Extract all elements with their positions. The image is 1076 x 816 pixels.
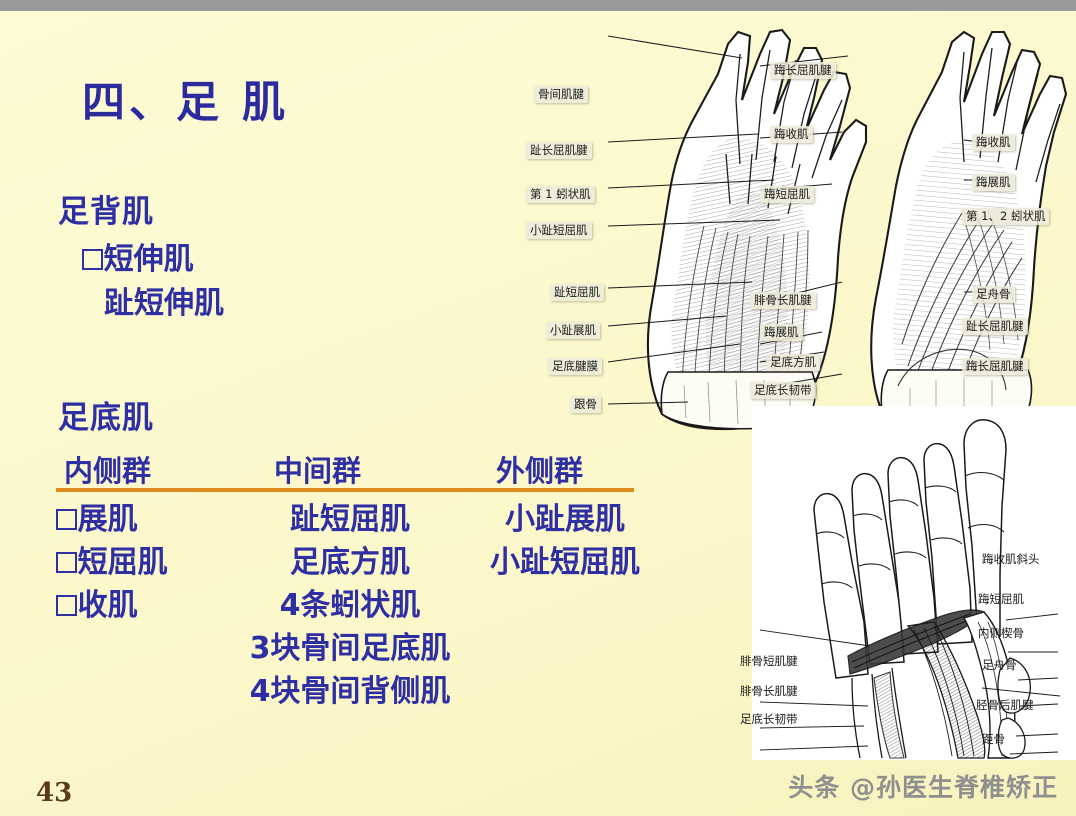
missing-glyph-box <box>56 595 77 616</box>
orange-divider-rule <box>56 488 634 492</box>
dorsal-item-1: 趾短伸肌 <box>104 278 224 322</box>
missing-glyph-box <box>56 552 77 573</box>
figure-label: 足底方肌 <box>766 354 820 371</box>
figure-label: 腓骨短肌腱 <box>738 654 800 669</box>
figure-label: 足底腱膜 <box>548 358 602 375</box>
page-title: 四、足 肌 <box>82 68 289 130</box>
figure-label: 内侧楔骨 <box>976 626 1026 641</box>
list-item-label: 展肌 <box>78 502 138 537</box>
section-heading-plantar: 足底肌 <box>58 392 154 437</box>
figure-label: 距骨 <box>980 732 1007 747</box>
figure-label: 踇展肌 <box>760 324 803 341</box>
list-item: 小趾短屈肌 <box>470 541 660 584</box>
figure-label: 趾长屈肌腱 <box>962 318 1028 335</box>
list-item: 3块骨间足底肌 <box>210 627 490 670</box>
slide-canvas: 骨间肌腱 趾长屈肌腱 第 1 蚓状肌 小趾短屈肌 趾短屈肌 小趾展肌 足底腱膜 … <box>0 0 1076 816</box>
figure-label: 踇收肌 <box>972 134 1015 151</box>
page-number: 43 <box>36 778 72 808</box>
figure-label: 小趾短屈肌 <box>526 222 592 239</box>
section-heading-dorsal: 足背肌 <box>58 186 154 231</box>
column-middle-group: 趾短屈肌 足底方肌 4条蚓状肌 3块骨间足底肌 4块骨间背侧肌 <box>210 498 490 713</box>
list-item: 趾短屈肌 <box>210 498 490 541</box>
figure-label: 足底长韧带 <box>750 382 816 399</box>
figure-label: 趾长屈肌腱 <box>526 142 592 159</box>
column-lateral-group: 小趾展肌 小趾短屈肌 <box>470 498 660 584</box>
figure-label: 踇短屈肌 <box>976 592 1026 607</box>
missing-glyph-box <box>82 249 103 270</box>
top-gray-bar <box>0 0 1076 11</box>
missing-glyph-box <box>56 509 77 530</box>
list-item-label: 短屈肌 <box>78 545 168 580</box>
column-header-lateral: 外侧群 <box>496 448 583 490</box>
figure-label: 踇长屈肌腱 <box>770 62 836 79</box>
figure-label: 足舟骨 <box>980 658 1019 673</box>
dorsal-item-0-label: 短伸肌 <box>104 242 194 277</box>
dorsal-item-0: 短伸肌 <box>82 234 194 278</box>
figure-label: 第 1、2 蚓状肌 <box>962 208 1049 225</box>
figure-label: 踇收肌斜头 <box>980 552 1042 567</box>
figure-plantar-foot-superficial: 骨间肌腱 趾长屈肌腱 第 1 蚓状肌 小趾短屈肌 趾短屈肌 小趾展肌 足底腱膜 … <box>512 14 1076 438</box>
figure-label: 踇短屈肌 <box>760 186 814 203</box>
list-item: 4块骨间背侧肌 <box>210 670 490 713</box>
figure-label: 小趾展肌 <box>546 322 600 339</box>
figure-label: 足舟骨 <box>972 286 1015 303</box>
column-header-middle: 中间群 <box>274 448 361 490</box>
figure-label: 踇展肌 <box>972 174 1015 191</box>
list-item: 4条蚓状肌 <box>210 584 490 627</box>
figure-label: 骨间肌腱 <box>534 86 588 103</box>
list-item-label: 收肌 <box>78 588 138 623</box>
list-item: 小趾展肌 <box>470 498 660 541</box>
figure-plantar-foot-deep: 踇收肌横头 腓骨短肌腱 腓骨长肌腱 足底长韧带 踇收肌斜头 踇短屈肌 内侧楔骨 … <box>752 406 1076 760</box>
figure-label: 趾短屈肌 <box>550 284 604 301</box>
figure-label: 胫骨后肌腱 <box>974 698 1036 713</box>
figure-label: 踇收肌 <box>770 126 813 143</box>
figure-label: 第 1 蚓状肌 <box>526 186 595 203</box>
figure-label: 踇长屈肌腱 <box>962 358 1028 375</box>
list-item: 足底方肌 <box>210 541 490 584</box>
figure-label: 腓骨长肌腱 <box>750 292 816 309</box>
column-header-medial: 内侧群 <box>64 448 151 490</box>
left-foot-superficial <box>648 30 866 429</box>
figure-label: 腓骨长肌腱 <box>738 684 800 699</box>
figure-label: 足底长韧带 <box>738 712 800 727</box>
figure-label: 跟骨 <box>570 396 601 413</box>
watermark-text: 头条 @孙医生脊椎矫正 <box>788 768 1058 804</box>
